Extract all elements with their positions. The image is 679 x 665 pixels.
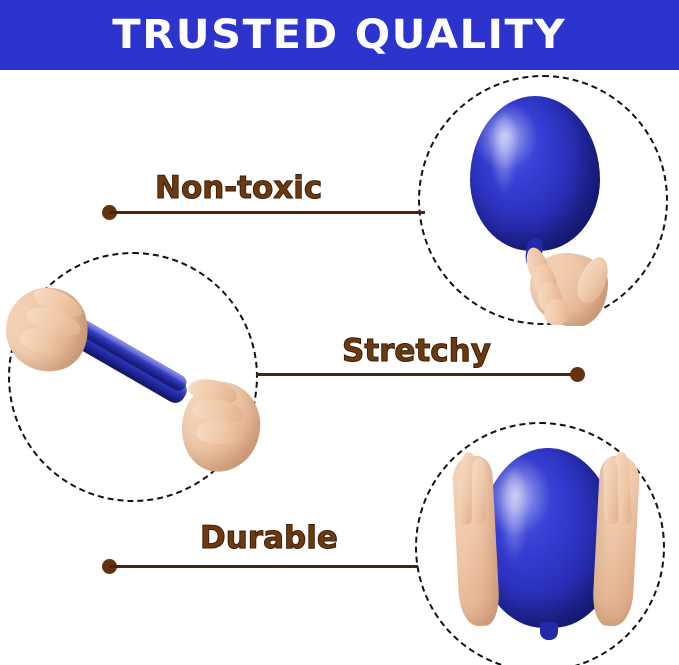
feature-label-non-toxic: Non-toxic (155, 170, 322, 206)
connector-line-durable (109, 565, 418, 568)
balloon-nozzle-icon (540, 622, 558, 640)
feature-group-durable: Durable (0, 420, 679, 665)
connector-line-stretchy (256, 373, 576, 376)
photo-hands-pressing-balloon (418, 422, 668, 665)
product-feature-infographic: TRUSTED QUALITY Non-toxic (0, 0, 679, 665)
feature-label-durable: Durable (200, 520, 338, 556)
finger-icon (471, 458, 486, 524)
header-banner: TRUSTED QUALITY (0, 0, 679, 70)
page-title: TRUSTED QUALITY (113, 15, 567, 55)
balloon-icon (470, 96, 600, 251)
connector-line-non-toxic (109, 211, 425, 214)
feature-label-stretchy: Stretchy (342, 333, 491, 369)
finger-icon (603, 458, 618, 524)
connector-dot-stretchy (570, 367, 585, 382)
